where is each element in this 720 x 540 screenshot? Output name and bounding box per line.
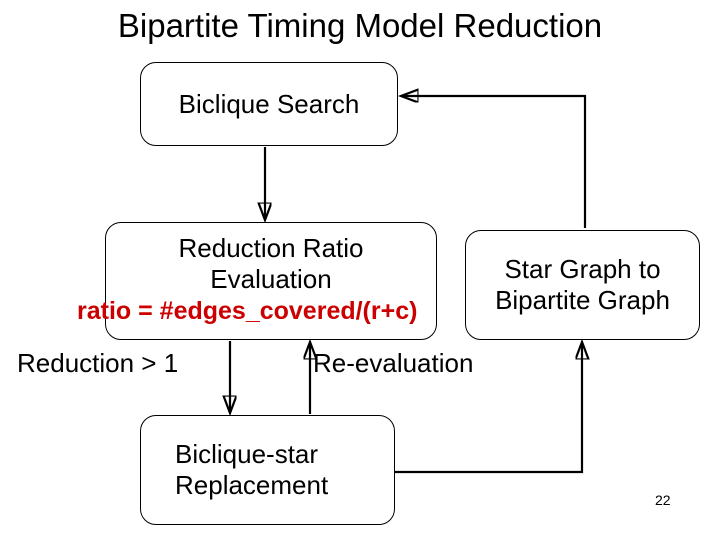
reevaluation-label: Re-evaluation — [313, 348, 473, 379]
page-number: 22 — [655, 492, 671, 508]
node-star-graph-to-bipartite-graph[interactable]: Star Graph to Bipartite Graph — [465, 230, 700, 340]
node-biclique-search[interactable]: Biclique Search — [140, 62, 398, 146]
node-biclique-star-text: Biclique-star Replacement — [175, 439, 328, 501]
node-biclique-star-line2: Replacement — [175, 470, 328, 501]
slide-canvas: Bipartite Timing Model Reduction Bicliqu… — [0, 0, 720, 540]
node-star-graph-line1: Star Graph to — [495, 254, 670, 285]
node-biclique-search-label: Biclique Search — [179, 89, 360, 120]
node-biclique-star-line1: Biclique-star — [175, 439, 328, 470]
node-biclique-star-replacement[interactable]: Biclique-star Replacement — [140, 415, 395, 525]
connector-star-graph-to-search — [402, 96, 585, 228]
reduction-condition-label: Reduction > 1 — [17, 348, 178, 379]
node-star-graph-text: Star Graph to Bipartite Graph — [495, 254, 670, 316]
page-title: Bipartite Timing Model Reduction — [0, 6, 720, 46]
node-reduction-ratio-text: Reduction Ratio Evaluation — [179, 233, 364, 295]
node-reduction-ratio-line1: Reduction Ratio — [179, 233, 364, 264]
ratio-formula-label: ratio = #edges_covered/(r+c) — [77, 297, 417, 326]
node-reduction-ratio-line2: Evaluation — [179, 264, 364, 295]
node-star-graph-line2: Bipartite Graph — [495, 285, 670, 316]
